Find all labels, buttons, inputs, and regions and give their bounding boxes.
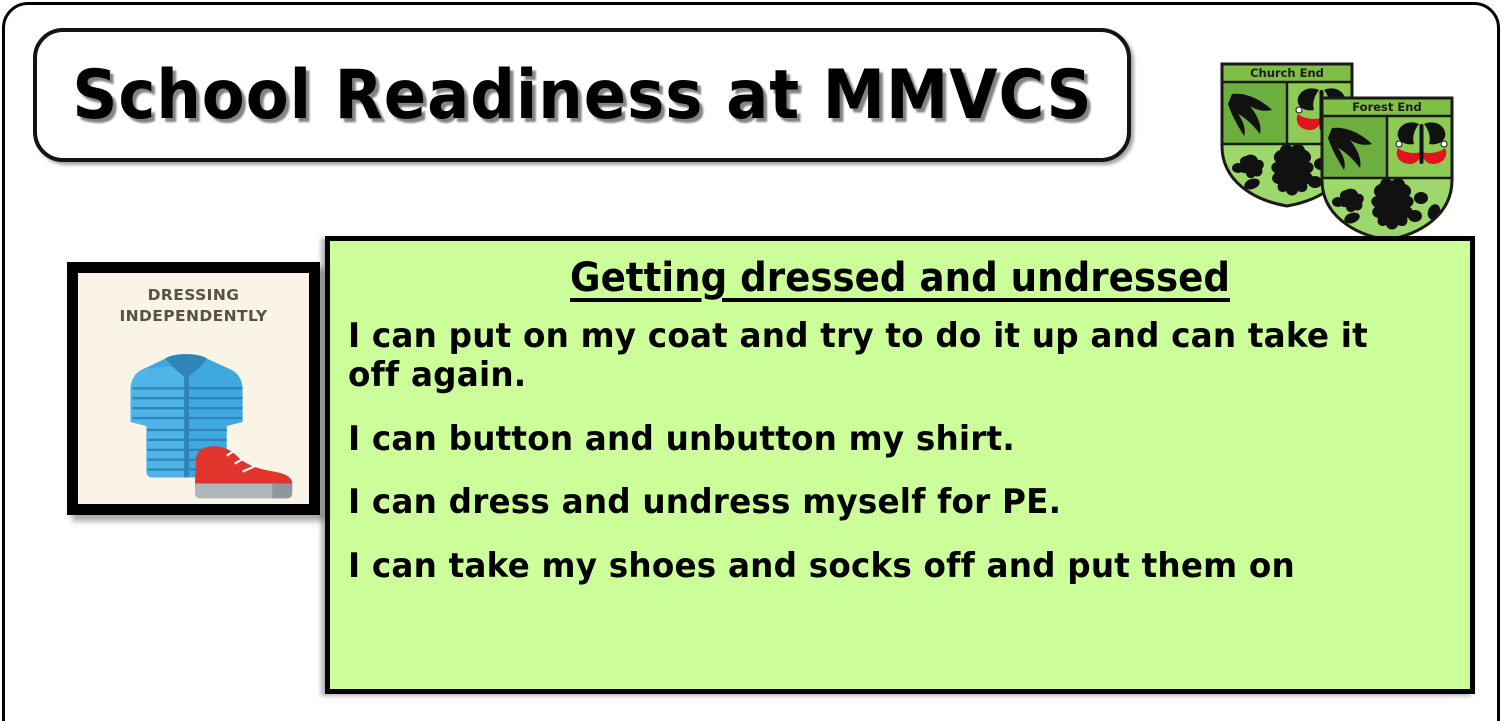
panel-body: I can put on my coat and try to do it up… [330,301,1470,586]
shield-forest-end: Forest End [1318,94,1456,244]
sneaker-icon [195,446,292,498]
illustration-caption-line-2: INDEPENDENTLY [78,306,309,327]
statement-line: I can take my shoes and socks off and pu… [348,547,1408,586]
illustration-artwork [78,344,309,504]
panel-heading: Getting dressed and undressed [370,255,1430,301]
statement-line: I can dress and undress myself for PE. [348,483,1408,522]
illustration-caption-line-1: DRESSING [78,285,309,306]
statement-line: I can button and unbutton my shirt. [348,420,1408,459]
illustration-caption: DRESSING INDEPENDENTLY [78,285,309,327]
slide-page: School Readiness at MMVCS [0,0,1504,721]
title-box: School Readiness at MMVCS [33,28,1131,162]
statement-line: I can put on my coat and try to do it up… [348,317,1408,396]
illustration-inner: DRESSING INDEPENDENTLY [78,273,309,504]
illustration-card: DRESSING INDEPENDENTLY [67,262,320,515]
page-title: School Readiness at MMVCS [72,56,1092,135]
shield-label-forest-end: Forest End [1352,100,1421,114]
school-crest: Church End [1218,52,1490,262]
shield-label-church-end: Church End [1250,66,1324,80]
content-panel: Getting dressed and undressed I can put … [325,236,1475,694]
